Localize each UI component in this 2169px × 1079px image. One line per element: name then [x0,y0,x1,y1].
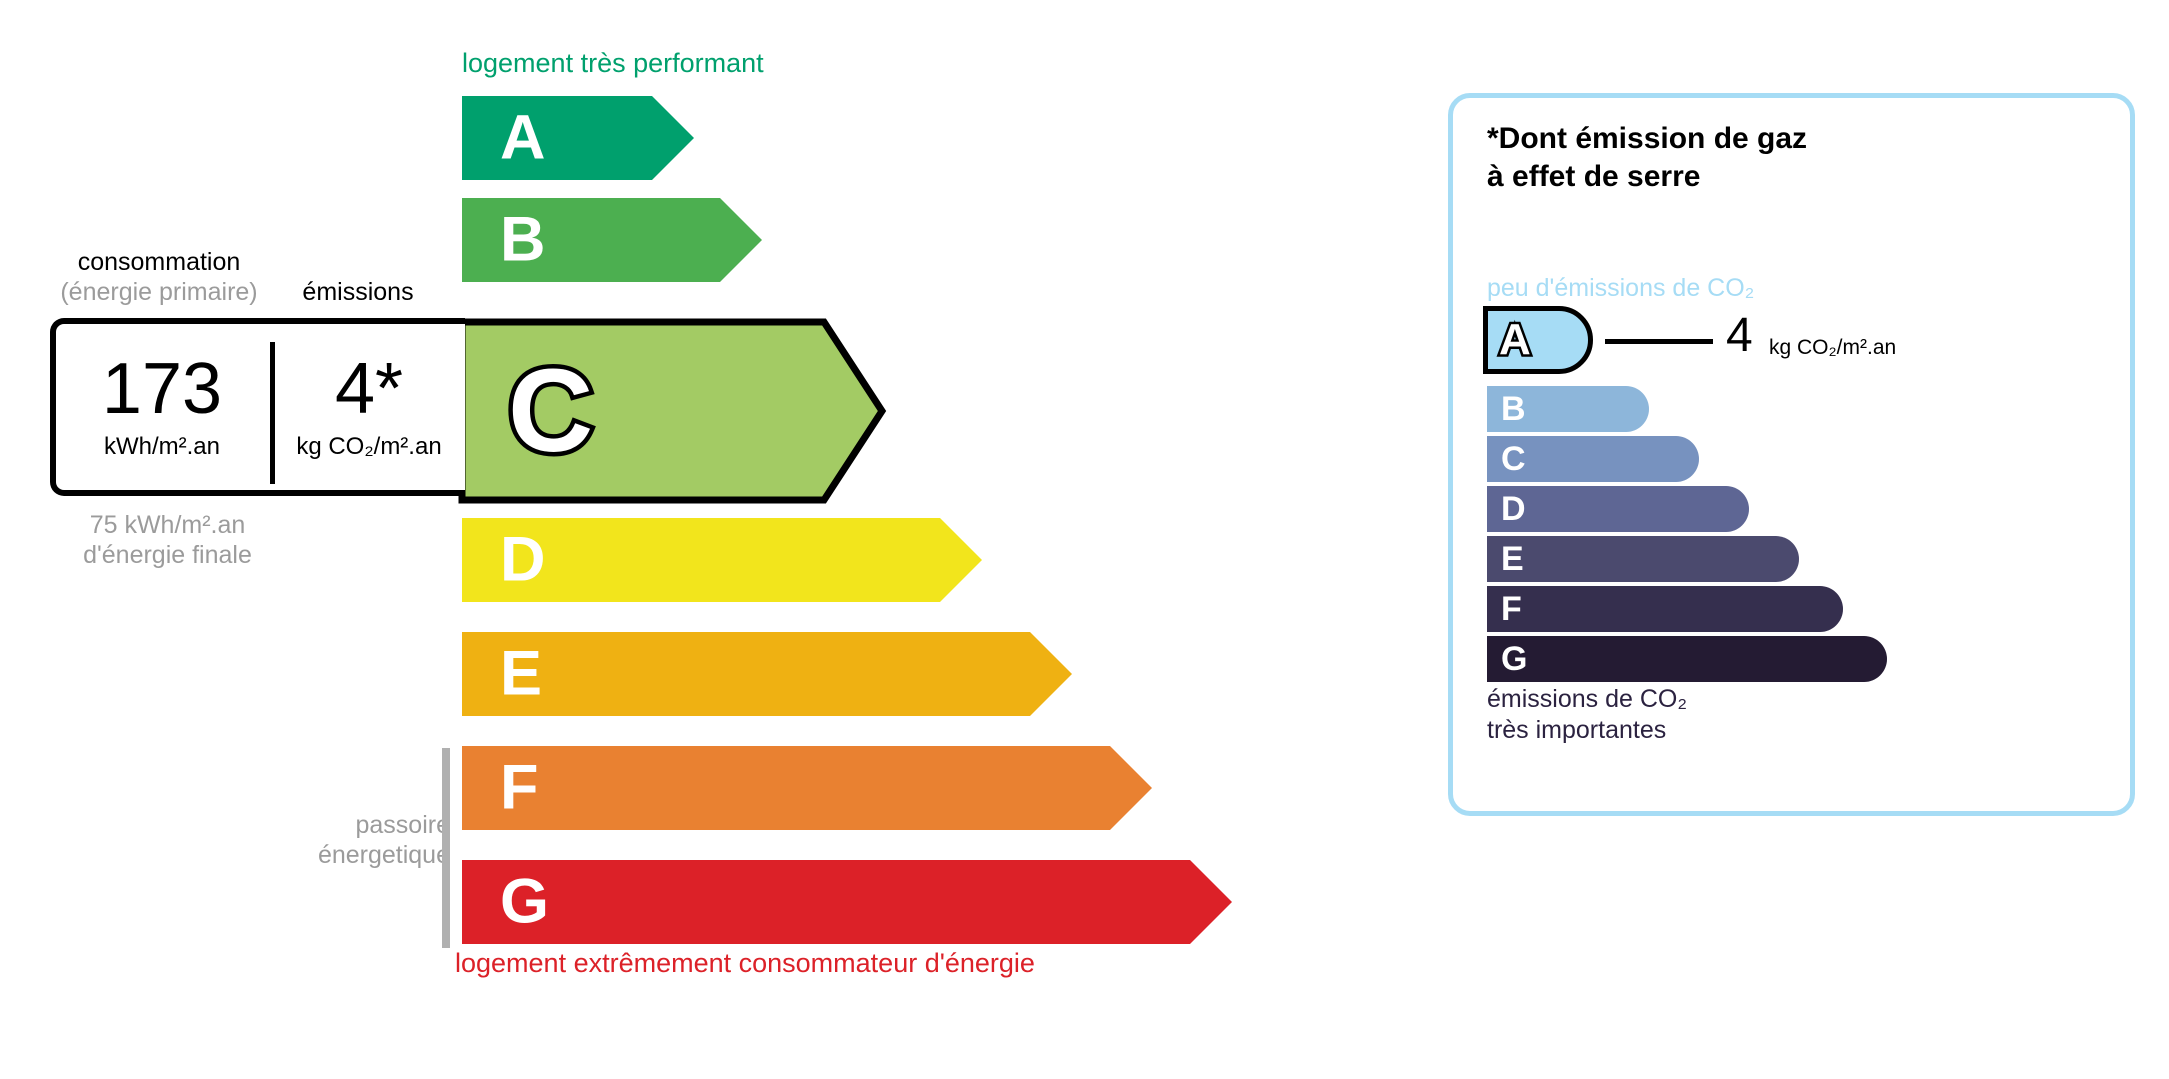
energy-arrow-f-shape [455,739,1159,837]
energy-class-row-d[interactable]: D [462,518,982,602]
final-energy-label: d'énergie finale [60,540,275,570]
co2-bar-g [1487,636,1887,682]
energy-class-letter-b: B [500,209,546,272]
co2-title-line1: *Dont émission de gaz [1487,120,1807,158]
co2-class-letter-g: G [1501,642,1527,676]
energy-scale-bottom-caption: logement extrêmement consommateur d'éner… [455,948,1035,979]
energy-class-letter-e: E [500,643,542,706]
consumption-value: 173 [102,353,222,425]
energy-scale-panel: logement très performant A B C D E F G c… [0,0,1380,1079]
consumption-header: consommation (énergie primaire) [50,248,268,307]
co2-class-letter-f: F [1501,592,1522,626]
final-energy-value: 75 kWh/m².an [60,510,275,540]
energy-class-letter-d: D [500,529,546,592]
co2-panel: *Dont émission de gaz à effet de serre p… [1448,93,2135,816]
co2-bottom-caption-line2: très importantes [1487,715,1687,746]
emission-value-cell: 4* kg CO₂/m².an [274,324,464,490]
passoire-label: passoire énergetique [260,810,450,870]
co2-bar-f [1487,586,1843,632]
co2-class-row-e[interactable]: E [1487,536,1799,582]
co2-bottom-caption-line1: émissions de CO₂ [1487,684,1687,715]
energy-class-letter-a: A [500,107,546,170]
consumption-value-cell: 173 kWh/m².an [56,324,268,490]
co2-class-row-g[interactable]: G [1487,636,1887,682]
co2-value-unit: kg CO₂/m².an [1769,336,1896,360]
co2-title-line2: à effet de serre [1487,158,1807,196]
selected-rating-box: 173 kWh/m².an 4* kg CO₂/m².an [50,318,870,496]
co2-selected-letter: A [1499,318,1531,362]
co2-top-caption: peu d'émissions de CO₂ [1487,274,1754,303]
co2-class-row-f[interactable]: F [1487,586,1843,632]
co2-bar-e [1487,536,1799,582]
energy-class-letter-g: G [500,871,549,934]
consumption-unit: kWh/m².an [104,433,220,461]
emission-value: 4* [335,353,403,425]
energy-class-row-f[interactable]: F [462,746,1152,830]
co2-class-row-b[interactable]: B [1487,386,1649,432]
energy-class-row-b[interactable]: B [462,198,762,282]
co2-bottom-caption: émissions de CO₂ très importantes [1487,684,1687,745]
co2-class-letter-b: B [1501,392,1526,426]
consumption-header-label: consommation [78,248,241,276]
passoire-label-line2: énergetique [260,840,450,870]
co2-class-row-d[interactable]: D [1487,486,1749,532]
co2-panel-title: *Dont émission de gaz à effet de serre [1487,120,1807,195]
passoire-bracket [442,748,450,948]
rating-values-box: 173 kWh/m².an 4* kg CO₂/m².an [50,318,465,496]
co2-selected-row[interactable]: A 4 kg CO₂/m².an [1483,306,2043,374]
co2-class-row-c[interactable]: C [1487,436,1699,482]
emission-unit: kg CO₂/m².an [296,433,441,461]
co2-class-letter-c: C [1501,442,1526,476]
co2-leader-line [1605,339,1713,344]
passoire-label-line1: passoire [260,810,450,840]
co2-bar-d [1487,486,1749,532]
energy-arrow-g-shape [455,853,1239,951]
co2-class-letter-e: E [1501,542,1524,576]
energy-class-row-e[interactable]: E [462,632,1072,716]
energy-arrow-a-shape [455,89,701,187]
emission-header: émissions [278,278,438,308]
final-energy-note: 75 kWh/m².an d'énergie finale [60,510,275,570]
energy-scale-top-caption: logement très performant [462,48,764,79]
energy-class-letter-f: F [500,757,538,820]
co2-class-letter-d: D [1501,492,1526,526]
energy-arrow-e-shape [455,625,1079,723]
consumption-subheader-label: (énergie primaire) [50,278,268,308]
co2-value: 4 [1726,312,1753,360]
energy-class-row-g[interactable]: G [462,860,1232,944]
energy-class-row-a[interactable]: A [462,96,694,180]
